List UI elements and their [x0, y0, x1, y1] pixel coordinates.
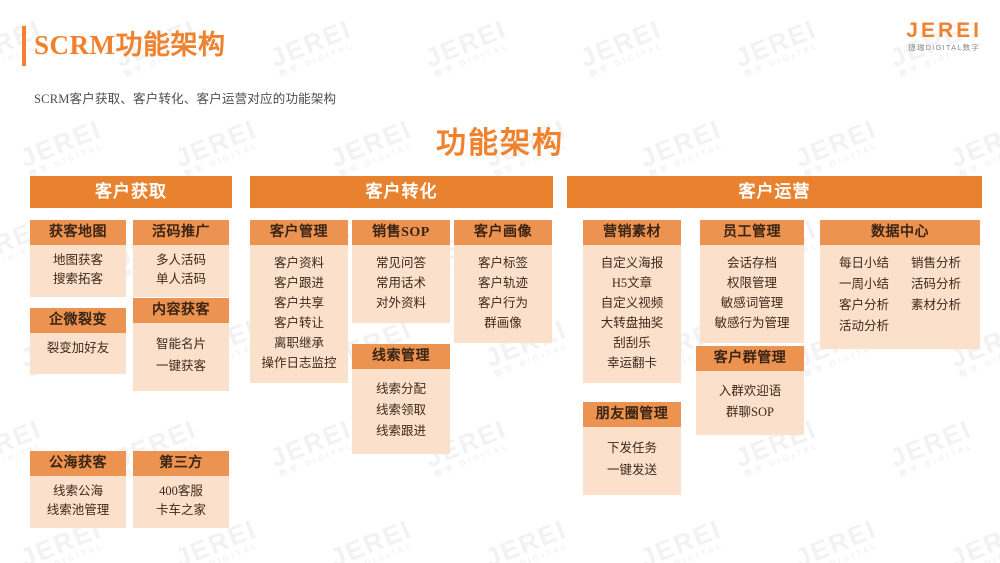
- list-item: 客户资料: [252, 253, 346, 273]
- card-items-marketing-materials: 自定义海报 H5文章 自定义视频 大转盘抽奖 刮刮乐 幸运翻卡: [583, 245, 681, 383]
- list-item: H5文章: [585, 273, 679, 293]
- card-items-customer-profile: 客户标签 客户轨迹 客户行为 群画像: [454, 245, 552, 343]
- card-sales-sop[interactable]: 销售SOP 常见问答 常用话术 对外资料: [352, 220, 450, 323]
- column-header-customer-conversion: 客户转化: [250, 176, 553, 208]
- card-customer-group-management[interactable]: 客户群管理 入群欢迎语 群聊SOP: [696, 346, 804, 435]
- card-title-customer-profile: 客户画像: [454, 220, 552, 245]
- column-customer-conversion: 客户转化 客户管理 客户资料 客户跟进 客户共享 客户转让 离职继承 操作日志监…: [250, 176, 553, 510]
- column-body-customer-operations: 营销素材 自定义海报 H5文章 自定义视频 大转盘抽奖 刮刮乐 幸运翻卡 朋友圈…: [567, 220, 982, 510]
- card-items-wecom-fission: 裂变加好友: [30, 333, 126, 374]
- list-item: 搜索拓客: [32, 270, 124, 289]
- card-staff-management[interactable]: 员工管理 会话存档 权限管理 敏感词管理 敏感行为管理: [700, 220, 804, 343]
- card-live-code-promotion[interactable]: 活码推广 多人活码 单人活码: [133, 220, 229, 297]
- card-title-sales-sop: 销售SOP: [352, 220, 450, 245]
- list-item: 一周小结: [828, 274, 900, 295]
- list-item: 大转盘抽奖: [585, 313, 679, 333]
- card-marketing-materials[interactable]: 营销素材 自定义海报 H5文章 自定义视频 大转盘抽奖 刮刮乐 幸运翻卡: [583, 220, 681, 383]
- column-header-customer-acquisition: 客户获取: [30, 176, 232, 208]
- list-item: 敏感行为管理: [702, 313, 802, 333]
- card-items-live-code-promotion: 多人活码 单人活码: [133, 245, 229, 297]
- architecture-diagram: 客户获取 获客地图 地图获客 搜索拓客 活码推广 多人活码 单人活码: [0, 0, 1000, 563]
- list-item: 下发任务: [585, 437, 679, 459]
- list-item: 客户轨迹: [456, 273, 550, 293]
- list-item: 素材分析: [900, 295, 972, 316]
- list-item: 销售分析: [900, 253, 972, 274]
- card-items-moments-management: 下发任务 一键发送: [583, 427, 681, 495]
- list-item: 会话存档: [702, 253, 802, 273]
- list-item: 线索池管理: [32, 501, 124, 520]
- card-items-lead-management: 线索分配 线索领取 线索跟进: [352, 369, 450, 454]
- card-wecom-fission[interactable]: 企微裂变 裂变加好友: [30, 308, 126, 374]
- list-item: 自定义海报: [585, 253, 679, 273]
- list-item: 客户标签: [456, 253, 550, 273]
- list-item: 群聊SOP: [698, 402, 802, 423]
- list-item: 客户转让: [252, 313, 346, 333]
- card-items-public-pool-acquisition: 线索公海 线索池管理: [30, 476, 126, 528]
- list-item: 智能名片: [135, 333, 227, 355]
- card-moments-management[interactable]: 朋友圈管理 下发任务 一键发送: [583, 402, 681, 495]
- column-body-customer-acquisition: 获客地图 地图获客 搜索拓客 活码推广 多人活码 单人活码 企微裂变: [30, 220, 232, 510]
- data-center-column-right: 销售分析 活码分析 素材分析: [900, 253, 972, 337]
- list-item: 离职继承: [252, 333, 346, 353]
- column-header-customer-operations: 客户运营: [567, 176, 982, 208]
- card-public-pool-acquisition[interactable]: 公海获客 线索公海 线索池管理: [30, 451, 126, 528]
- card-items-staff-management: 会话存档 权限管理 敏感词管理 敏感行为管理: [700, 245, 804, 343]
- logo-wordmark: JEREI: [906, 20, 982, 41]
- card-title-public-pool-acquisition: 公海获客: [30, 451, 126, 476]
- card-customer-profile[interactable]: 客户画像 客户标签 客户轨迹 客户行为 群画像: [454, 220, 552, 343]
- list-item: 一键发送: [585, 459, 679, 481]
- list-item: 常用话术: [354, 273, 448, 293]
- list-item: 对外资料: [354, 293, 448, 313]
- card-items-customer-management: 客户资料 客户跟进 客户共享 客户转让 离职继承 操作日志监控: [250, 245, 348, 383]
- card-title-content-acquisition: 内容获客: [133, 298, 229, 323]
- column-body-customer-conversion: 客户管理 客户资料 客户跟进 客户共享 客户转让 离职继承 操作日志监控 销售S…: [250, 220, 553, 510]
- card-items-content-acquisition: 智能名片 一键获客: [133, 323, 229, 391]
- card-title-staff-management: 员工管理: [700, 220, 804, 245]
- list-item: 客户分析: [828, 295, 900, 316]
- list-item: 入群欢迎语: [698, 381, 802, 402]
- card-title-wecom-fission: 企微裂变: [30, 308, 126, 333]
- card-items-third-party: 400客服 卡车之家: [133, 476, 229, 528]
- card-third-party[interactable]: 第三方 400客服 卡车之家: [133, 451, 229, 528]
- list-item: 幸运翻卡: [585, 353, 679, 373]
- card-title-moments-management: 朋友圈管理: [583, 402, 681, 427]
- card-title-marketing-materials: 营销素材: [583, 220, 681, 245]
- card-title-live-code-promotion: 活码推广: [133, 220, 229, 245]
- card-lead-management[interactable]: 线索管理 线索分配 线索领取 线索跟进: [352, 344, 450, 454]
- list-item: 群画像: [456, 313, 550, 333]
- list-item: 客户跟进: [252, 273, 346, 293]
- list-item: 卡车之家: [135, 501, 227, 520]
- list-item: 线索领取: [354, 400, 448, 421]
- card-items-acquisition-map: 地图获客 搜索拓客: [30, 245, 126, 297]
- list-item: 多人活码: [135, 251, 227, 270]
- column-customer-operations: 客户运营 营销素材 自定义海报 H5文章 自定义视频 大转盘抽奖 刮刮乐 幸运翻…: [567, 176, 982, 510]
- card-title-customer-group-management: 客户群管理: [696, 346, 804, 371]
- list-item: 操作日志监控: [252, 353, 346, 373]
- card-items-customer-group-management: 入群欢迎语 群聊SOP: [696, 371, 804, 435]
- list-item: 线索跟进: [354, 421, 448, 442]
- list-item: 常见问答: [354, 253, 448, 273]
- list-item: 活码分析: [900, 274, 972, 295]
- slide-canvas: JEREI数字 DIGITALJEREI数字 DIGITALJEREI数字 DI…: [0, 0, 1000, 563]
- list-item: 400客服: [135, 482, 227, 501]
- list-item: 客户行为: [456, 293, 550, 313]
- card-customer-management[interactable]: 客户管理 客户资料 客户跟进 客户共享 客户转让 离职继承 操作日志监控: [250, 220, 348, 383]
- list-item: 每日小结: [828, 253, 900, 274]
- card-title-lead-management: 线索管理: [352, 344, 450, 369]
- list-item: 活动分析: [828, 316, 900, 337]
- card-acquisition-map[interactable]: 获客地图 地图获客 搜索拓客: [30, 220, 126, 297]
- data-center-column-left: 每日小结 一周小结 客户分析 活动分析: [828, 253, 900, 337]
- list-item: 线索分配: [354, 379, 448, 400]
- card-title-third-party: 第三方: [133, 451, 229, 476]
- list-item: 刮刮乐: [585, 333, 679, 353]
- list-item: 权限管理: [702, 273, 802, 293]
- list-item: 线索公海: [32, 482, 124, 501]
- card-title-acquisition-map: 获客地图: [30, 220, 126, 245]
- list-item: 地图获客: [32, 251, 124, 270]
- card-content-acquisition[interactable]: 内容获客 智能名片 一键获客: [133, 298, 229, 391]
- card-items-data-center: 每日小结 一周小结 客户分析 活动分析 销售分析 活码分析 素材分析: [820, 245, 980, 349]
- list-item: 裂变加好友: [32, 339, 124, 358]
- list-item: 敏感词管理: [702, 293, 802, 313]
- logo-subtext: 捷瑞DIGITAL数字: [906, 44, 982, 52]
- column-customer-acquisition: 客户获取 获客地图 地图获客 搜索拓客 活码推广 多人活码 单人活码: [30, 176, 232, 510]
- card-data-center[interactable]: 数据中心 每日小结 一周小结 客户分析 活动分析 销售分析 活码分析 素材分析: [820, 220, 980, 349]
- list-item: 单人活码: [135, 270, 227, 289]
- list-item: 一键获客: [135, 355, 227, 377]
- brand-logo: JEREI 捷瑞DIGITAL数字: [906, 20, 982, 52]
- list-item: 自定义视频: [585, 293, 679, 313]
- list-item: 客户共享: [252, 293, 346, 313]
- card-title-customer-management: 客户管理: [250, 220, 348, 245]
- card-items-sales-sop: 常见问答 常用话术 对外资料: [352, 245, 450, 323]
- card-title-data-center: 数据中心: [820, 220, 980, 245]
